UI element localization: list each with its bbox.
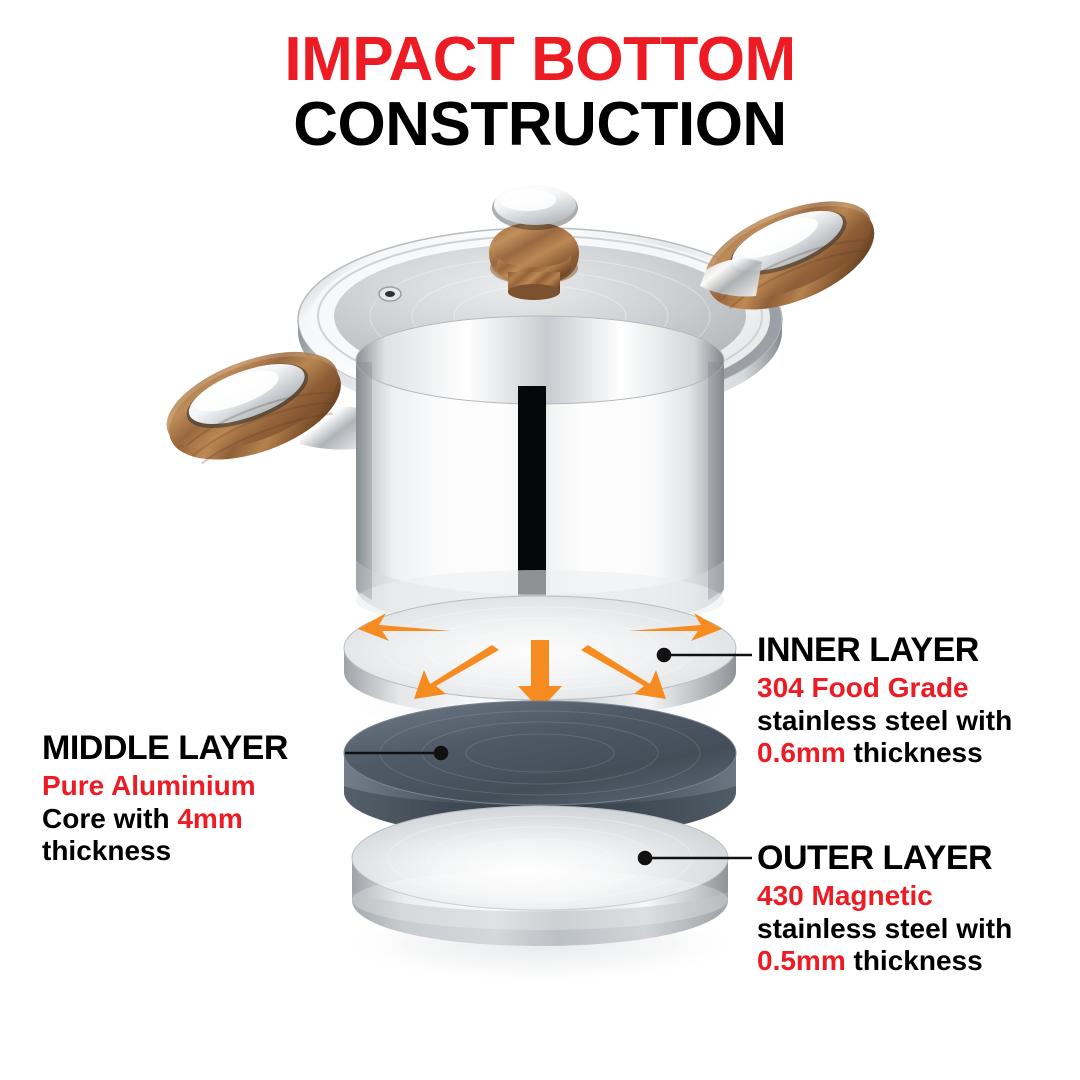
callout-middle-layer: MIDDLE LAYER Pure Aluminium Core with 4m… [42, 730, 372, 867]
callout-inner-thickness: 0.6mm [757, 737, 846, 768]
callout-inner-heading: INNER LAYER [757, 632, 1077, 668]
callout-outer-material: 430 Magnetic [757, 880, 933, 911]
callout-inner-text-2: thickness [846, 737, 983, 768]
callout-middle-thickness: 4mm [177, 803, 242, 834]
callout-inner-body: 304 Food Grade stainless steel with 0.6m… [757, 672, 1077, 769]
callout-outer-body: 430 Magnetic stainless steel with 0.5mm … [757, 880, 1077, 977]
callout-inner-layer: INNER LAYER 304 Food Grade stainless ste… [757, 632, 1077, 769]
callout-middle-heading: MIDDLE LAYER [42, 730, 372, 766]
callout-inner-text-1: stainless steel with [757, 705, 1012, 736]
callout-middle-material: Pure Aluminium [42, 770, 256, 801]
leader-dot-inner [658, 649, 670, 661]
callout-inner-material: 304 Food Grade [757, 672, 969, 703]
callout-outer-thickness: 0.5mm [757, 945, 846, 976]
callout-outer-text-1: stainless steel with [757, 913, 1012, 944]
callout-outer-text-2: thickness [846, 945, 983, 976]
leader-dot-outer [639, 852, 651, 864]
callout-outer-heading: OUTER LAYER [757, 840, 1077, 876]
infographic-canvas: IMPACT BOTTOM CONSTRUCTION [0, 0, 1080, 1080]
callout-middle-text-2: thickness [42, 835, 171, 866]
callout-middle-body: Pure Aluminium Core with 4mm thickness [42, 770, 372, 867]
leader-dot-middle [435, 747, 447, 759]
callout-outer-layer: OUTER LAYER 430 Magnetic stainless steel… [757, 840, 1077, 977]
callout-middle-text-1: Core with [42, 803, 177, 834]
